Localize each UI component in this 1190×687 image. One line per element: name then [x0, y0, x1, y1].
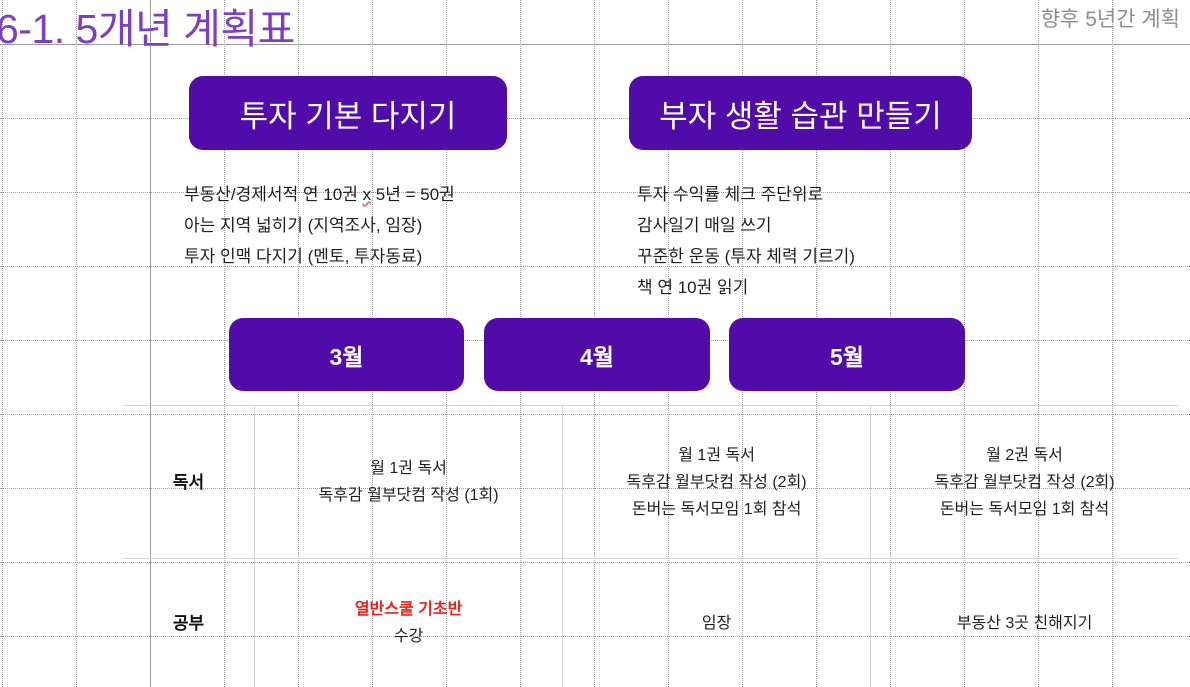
- plan-cell-reading-april: 월 1권 독서 독후감 월부닷컴 작성 (2회) 돈버는 독서모임 1회 참석: [563, 406, 871, 559]
- plan-cell-study-april: 임장: [563, 559, 871, 687]
- plan-table: 독서 월 1권 독서 독후감 월부닷컴 작성 (1회) 월 1권 독서 독후감 …: [123, 405, 1178, 687]
- goal-list-rich-habits: 투자 수익률 체크 주단위로 감사일기 매일 쓰기 꾸준한 운동 (투자 체력 …: [637, 179, 855, 303]
- plan-cell-line: 부동산 3곳 친해지기: [871, 610, 1178, 637]
- row-label-reading: 독서: [123, 406, 255, 559]
- plan-cell-line: 임장: [563, 610, 870, 637]
- slide-canvas: 6-1. 5개년 계획표 향후 5년간 계획 투자 기본 다지기 부자 생활 습…: [0, 0, 1190, 687]
- section-heading-rich-habits: 부자 생활 습관 만들기: [629, 76, 972, 150]
- goal-item: 투자 인맥 다지기 (멘토, 투자동료): [184, 241, 455, 272]
- plan-cell-line-highlighted: 열반스쿨 기초반: [255, 596, 562, 623]
- grid-line-vertical: [76, 0, 77, 687]
- row-label-study: 공부: [123, 559, 255, 687]
- plan-cell-study-march: 열반스쿨 기초반 수강: [255, 559, 563, 687]
- section-heading-invest: 투자 기본 다지기: [189, 76, 507, 150]
- grid-line-horizontal: [0, 266, 1190, 267]
- plan-cell-line: 수강: [255, 623, 562, 650]
- misspelled-word: x: [363, 185, 372, 204]
- table-row: 독서 월 1권 독서 독후감 월부닷컴 작성 (1회) 월 1권 독서 독후감 …: [123, 406, 1178, 559]
- goal-item: 감사일기 매일 쓰기: [637, 210, 855, 241]
- month-header-april: 4월: [484, 318, 710, 391]
- grid-line-vertical: [2, 0, 3, 687]
- plan-cell-line: 돈버는 독서모임 1회 참석: [871, 496, 1178, 523]
- plan-cell-line: 월 2권 독서: [871, 442, 1178, 469]
- goal-item: 투자 수익률 체크 주단위로: [637, 179, 855, 210]
- plan-cell-line: 월 1권 독서: [255, 455, 562, 482]
- goal-item: 책 연 10권 읽기: [637, 272, 855, 303]
- plan-cell-study-may: 부동산 3곳 친해지기: [871, 559, 1178, 687]
- page-kicker: 향후 5년간 계획: [1041, 6, 1180, 34]
- page-title: 6-1. 5개년 계획표: [0, 4, 295, 54]
- grid-line-horizontal: [0, 192, 1190, 193]
- plan-cell-line: 월 1권 독서: [563, 442, 870, 469]
- grid-line-horizontal: [0, 118, 1190, 119]
- plan-cell-reading-may: 월 2권 독서 독후감 월부닷컴 작성 (2회) 돈버는 독서모임 1회 참석: [871, 406, 1178, 559]
- plan-cell-line: 독후감 월부닷컴 작성 (2회): [871, 469, 1178, 496]
- goal-item: 아는 지역 넓히기 (지역조사, 임장): [184, 210, 455, 241]
- goal-item: 꾸준한 운동 (투자 체력 기르기): [637, 241, 855, 272]
- table-row: 공부 열반스쿨 기초반 수강 임장 부동산 3곳 친해지기: [123, 559, 1178, 687]
- plan-cell-line: 독후감 월부닷컴 작성 (1회): [255, 482, 562, 509]
- month-header-march: 3월: [229, 318, 464, 391]
- plan-cell-reading-march: 월 1권 독서 독후감 월부닷컴 작성 (1회): [255, 406, 563, 559]
- month-header-may: 5월: [729, 318, 965, 391]
- goal-item: 부동산/경제서적 연 10권 x 5년 = 50권: [184, 179, 455, 210]
- plan-cell-line: 돈버는 독서모임 1회 참석: [563, 496, 870, 523]
- goal-list-invest: 부동산/경제서적 연 10권 x 5년 = 50권 아는 지역 넓히기 (지역조…: [184, 179, 455, 272]
- plan-cell-line: 독후감 월부닷컴 작성 (2회): [563, 469, 870, 496]
